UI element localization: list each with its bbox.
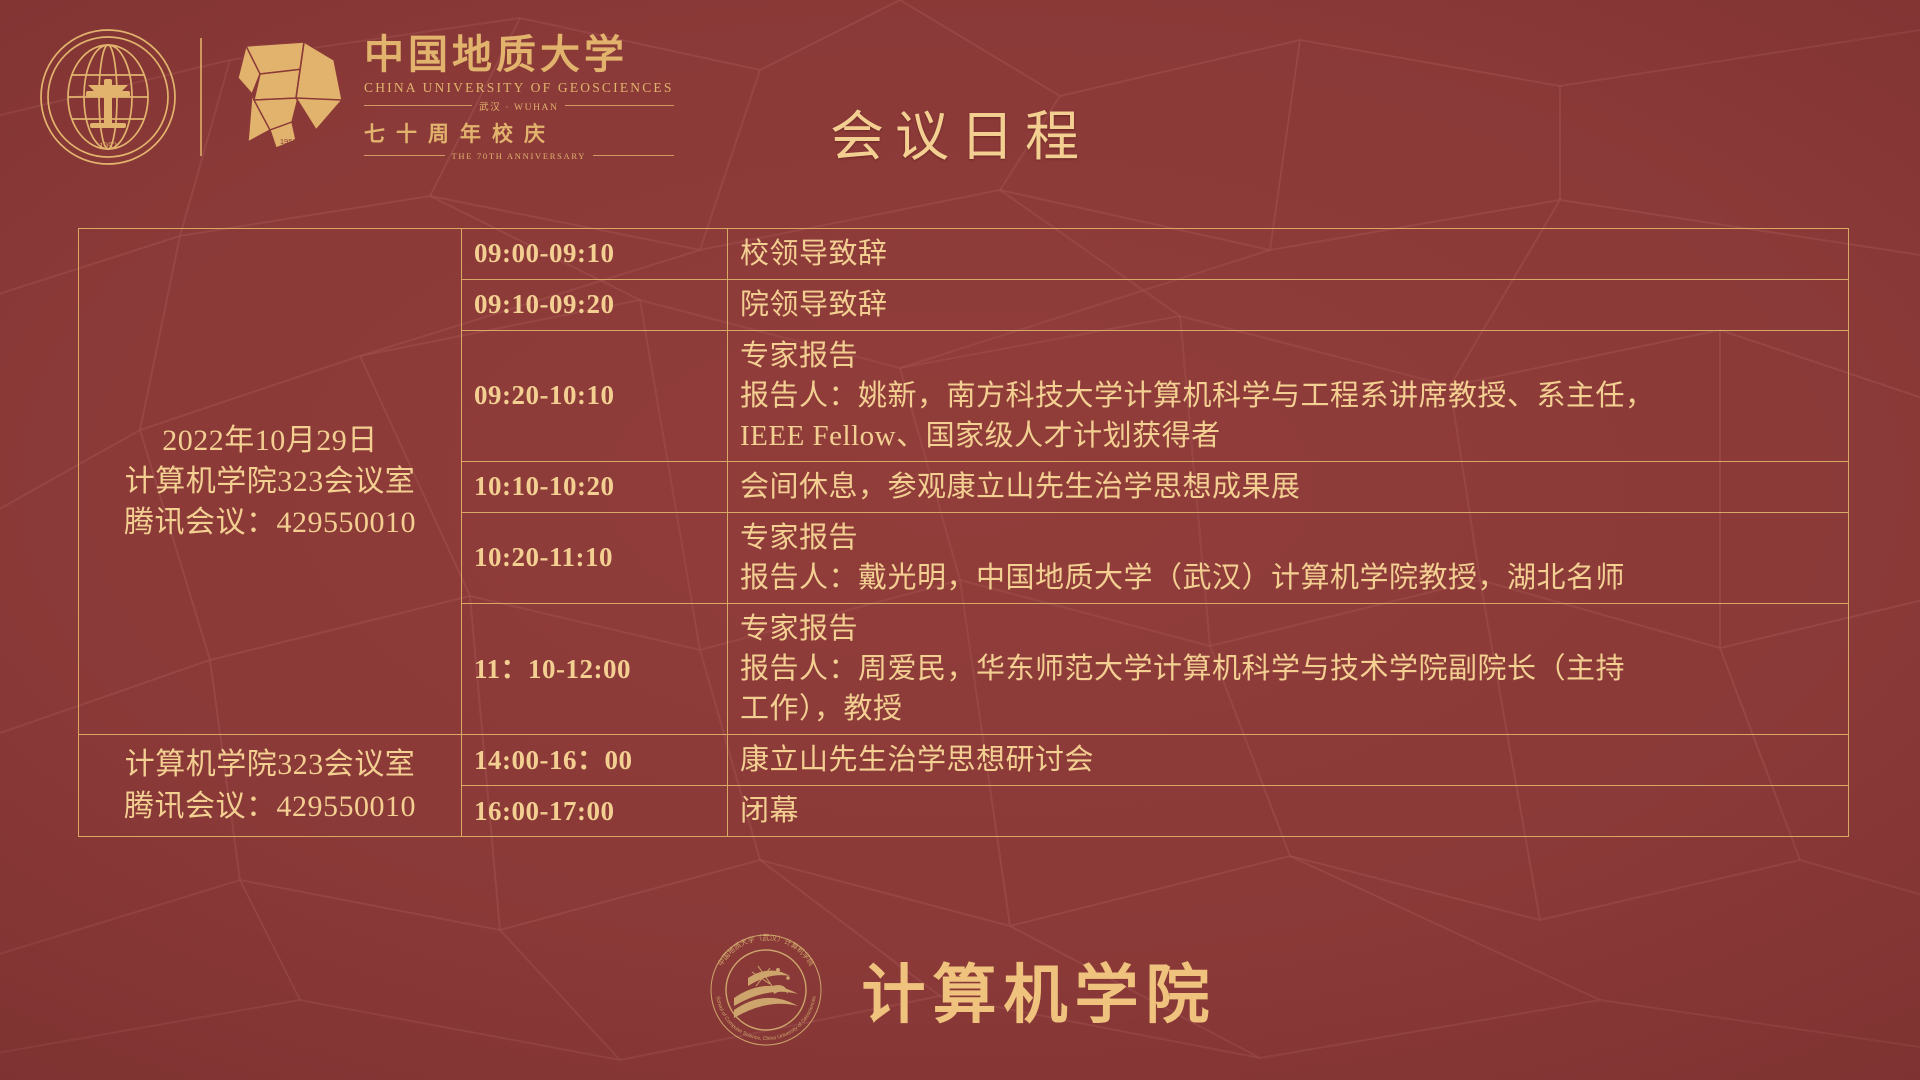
session-content-line: 会间休息，参观康立山先生治学思想成果展	[740, 467, 1836, 507]
session-content-line: 工作），教授	[740, 689, 1836, 729]
school-name-label: 计算机学院	[862, 944, 1217, 1036]
session-time-cell: 16:00-17:00	[462, 786, 728, 837]
session-time-cell: 11：10-12:00	[462, 604, 728, 735]
session-content-cell: 闭幕	[728, 786, 1849, 837]
session-content-line: 报告人：姚新，南方科技大学计算机科学与工程系讲席教授、系主任，	[740, 376, 1836, 416]
schedule-table-body: 2022年10月29日计算机学院323会议室腾讯会议：42955001009:0…	[79, 229, 1849, 837]
session-content-cell: 院领导致辞	[728, 280, 1849, 331]
schedule-table: 2022年10月29日计算机学院323会议室腾讯会议：42955001009:0…	[78, 228, 1849, 837]
session-time-cell: 14:00-16：00	[462, 735, 728, 786]
session-content-cell: 专家报告报告人：周爱民，华东师范大学计算机科学与技术学院副院长（主持工作），教授	[728, 604, 1849, 735]
session-content-line: 康立山先生治学思想研讨会	[740, 740, 1836, 780]
session-time-cell: 09:10-09:20	[462, 280, 728, 331]
session-when-cell: 2022年10月29日计算机学院323会议室腾讯会议：429550010	[79, 229, 462, 735]
session-when-line: 腾讯会议：429550010	[91, 786, 449, 827]
session-when-line: 腾讯会议：429550010	[91, 502, 449, 543]
session-content-line: 校领导致辞	[740, 234, 1836, 274]
session-content-cell: 专家报告报告人：戴光明，中国地质大学（武汉）计算机学院教授，湖北名师	[728, 513, 1849, 604]
session-content-cell: 会间休息，参观康立山先生治学思想成果展	[728, 462, 1849, 513]
session-content-cell: 校领导致辞	[728, 229, 1849, 280]
session-content-line: 专家报告	[740, 609, 1836, 649]
session-time-cell: 10:10-10:20	[462, 462, 728, 513]
schedule-table-container: 2022年10月29日计算机学院323会议室腾讯会议：42955001009:0…	[78, 228, 1848, 837]
session-when-line: 计算机学院323会议室	[91, 461, 449, 502]
session-content-line: 专家报告	[740, 518, 1836, 558]
session-content-cell: 康立山先生治学思想研讨会	[728, 735, 1849, 786]
page-footer: 中国地质大学（武汉）计算机学院 School of Computer Scien…	[0, 928, 1920, 1052]
session-content-line: 报告人：戴光明，中国地质大学（武汉）计算机学院教授，湖北名师	[740, 558, 1836, 598]
session-when-cell: 计算机学院323会议室腾讯会议：429550010	[79, 735, 462, 837]
session-time-cell: 09:20-10:10	[462, 331, 728, 462]
page-title: 会议日程	[0, 92, 1920, 171]
session-content-line: 闭幕	[740, 791, 1836, 831]
session-when-line: 2022年10月29日	[91, 420, 449, 461]
session-content-line: 专家报告	[740, 336, 1836, 376]
session-content-line: 报告人：周爱民，华东师范大学计算机科学与技术学院副院长（主持	[740, 649, 1836, 689]
session-time-cell: 10:20-11:10	[462, 513, 728, 604]
session-when-line: 计算机学院323会议室	[91, 744, 449, 785]
session-content-cell: 专家报告报告人：姚新，南方科技大学计算机科学与工程系讲席教授、系主任，IEEE …	[728, 331, 1849, 462]
schedule-row: 2022年10月29日计算机学院323会议室腾讯会议：42955001009:0…	[79, 229, 1849, 280]
university-name-cn: 中国地质大学	[364, 34, 674, 76]
page-header: 1952 1	[0, 0, 1920, 200]
school-of-computer-science-seal-icon: 中国地质大学（武汉）计算机学院 School of Computer Scien…	[704, 928, 828, 1052]
session-content-line: 院领导致辞	[740, 285, 1836, 325]
session-content-line: IEEE Fellow、国家级人才计划获得者	[740, 416, 1836, 456]
session-time-cell: 09:00-09:10	[462, 229, 728, 280]
schedule-row: 计算机学院323会议室腾讯会议：42955001014:00-16：00康立山先…	[79, 735, 1849, 786]
